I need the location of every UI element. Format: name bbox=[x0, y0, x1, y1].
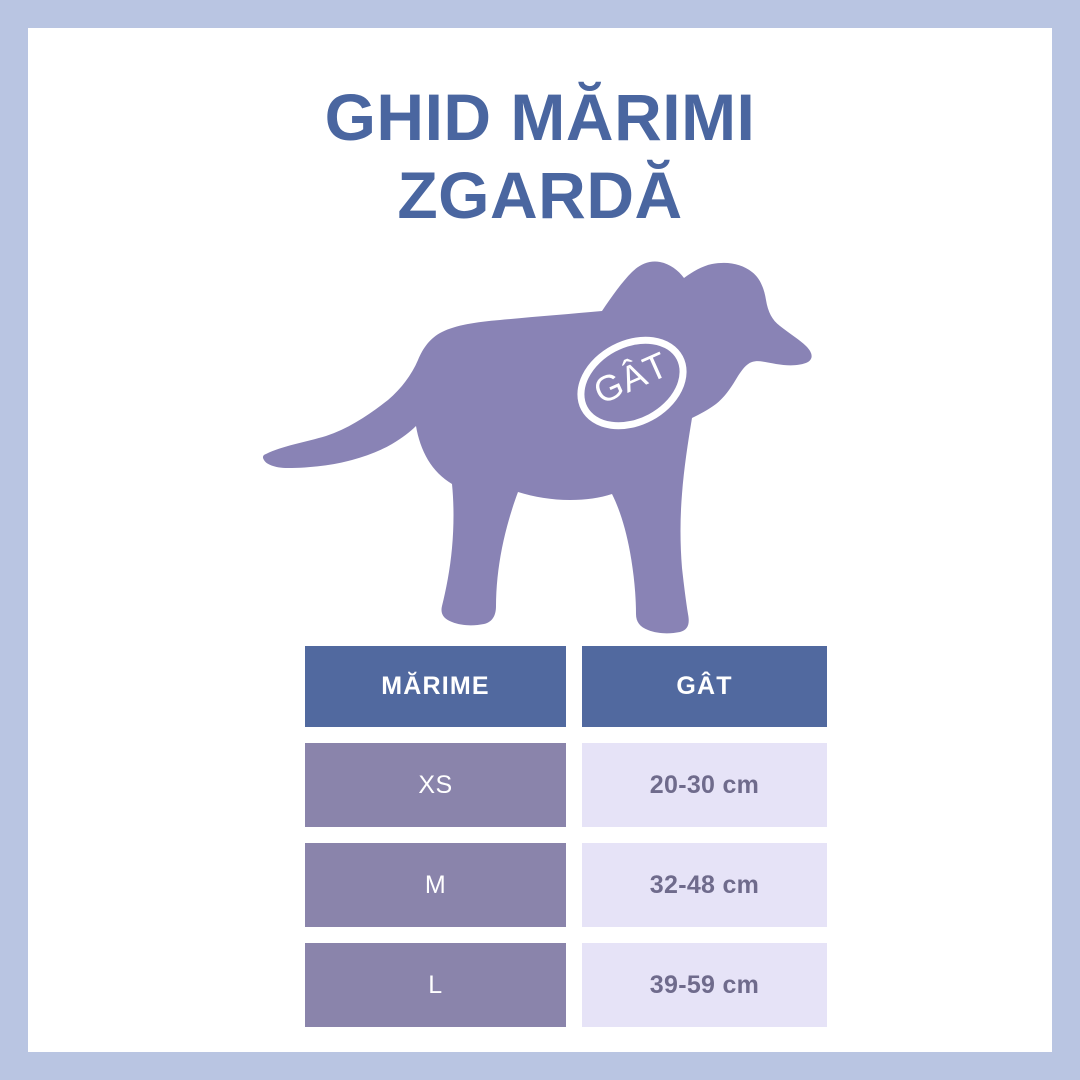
size-table: MĂRIME GÂT XS 20-30 cm M 32-48 cm L 39-5… bbox=[305, 646, 827, 1027]
header-cell-neck: GÂT bbox=[582, 646, 827, 727]
page-title: GHID MĂRIMI ZGARDĂ bbox=[28, 78, 1052, 234]
cell-neck-xs: 20-30 cm bbox=[582, 743, 827, 827]
cell-neck-m: 32-48 cm bbox=[582, 843, 827, 927]
dog-silhouette-icon: GÂT bbox=[260, 256, 820, 656]
table-row: M 32-48 cm bbox=[305, 843, 827, 927]
content-card: GHID MĂRIMI ZGARDĂ GÂT MĂRIME GÂT bbox=[28, 28, 1052, 1052]
size-guide-page: GHID MĂRIMI ZGARDĂ GÂT MĂRIME GÂT bbox=[0, 0, 1080, 1080]
page-title-line-2: ZGARDĂ bbox=[28, 156, 1052, 234]
header-cell-size: MĂRIME bbox=[305, 646, 566, 727]
dog-illustration: GÂT bbox=[28, 256, 1052, 656]
cell-size-l: L bbox=[305, 943, 566, 1027]
cell-size-xs: XS bbox=[305, 743, 566, 827]
dog-body-shape bbox=[263, 261, 812, 633]
cell-size-m: M bbox=[305, 843, 566, 927]
table-header-row: MĂRIME GÂT bbox=[305, 646, 827, 727]
table-row: XS 20-30 cm bbox=[305, 743, 827, 827]
page-title-line-1: GHID MĂRIMI bbox=[28, 78, 1052, 156]
table-row: L 39-59 cm bbox=[305, 943, 827, 1027]
cell-neck-l: 39-59 cm bbox=[582, 943, 827, 1027]
